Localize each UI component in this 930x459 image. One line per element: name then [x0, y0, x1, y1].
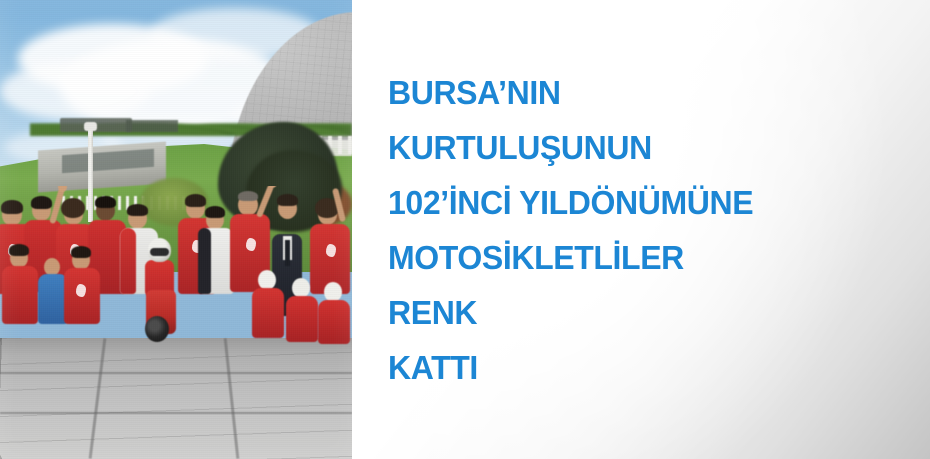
pavement-seam [0, 412, 352, 414]
helmet-visor [150, 248, 169, 256]
news-article-card: BURSA’NIN KURTULUŞUNUN 102’İNCİ YILDÖNÜM… [0, 0, 930, 459]
pavement-seam [0, 372, 352, 374]
headline-line-2: KURTULUŞUNUN [388, 120, 904, 175]
child-helmet [292, 278, 310, 298]
shirt-logo [326, 244, 336, 257]
person-hair [9, 244, 29, 256]
cloud-icon [0, 62, 150, 120]
person-hair [205, 206, 225, 218]
child-red-shirt [252, 288, 284, 338]
person-red-vest [120, 228, 136, 294]
person-hair [238, 191, 258, 201]
person-hair [127, 204, 148, 216]
shirt-logo [246, 238, 256, 251]
lamp-head [84, 122, 97, 131]
child-red-shirt [286, 296, 318, 342]
person-hair [71, 246, 91, 258]
child-helmet [324, 282, 342, 302]
headline-line-5: RENK [388, 285, 904, 340]
person-hair [95, 196, 116, 208]
child-red-shirt [318, 300, 350, 344]
motorcycle-wheel [145, 316, 169, 342]
headline-panel: BURSA’NIN KURTULUŞUNUN 102’İNCİ YILDÖNÜM… [352, 0, 930, 459]
distant-building [126, 120, 178, 132]
article-photo [0, 0, 352, 459]
person-hair [31, 196, 52, 209]
person-hair [61, 198, 85, 218]
person-hair [185, 194, 206, 207]
child-helmet [258, 270, 276, 290]
person-dark-jacket [198, 228, 211, 294]
waving-hand [58, 186, 67, 192]
headline-line-4: MOTOSİKLETLİLER [388, 230, 904, 285]
person-hair [277, 194, 298, 206]
person-red-shirt [2, 266, 38, 324]
crowd-of-people [0, 186, 352, 352]
headline-line-6: KATTI [388, 340, 904, 395]
pavement-grid-lines [0, 338, 352, 459]
article-headline: BURSA’NIN KURTULUŞUNUN 102’İNCİ YILDÖNÜM… [388, 65, 920, 395]
person-hair [1, 200, 23, 214]
headline-line-1: BURSA’NIN [388, 65, 904, 120]
official-tie [285, 240, 290, 266]
headline-line-3: 102’İNCİ YILDÖNÜMÜNE [388, 175, 904, 230]
shirt-logo [76, 284, 86, 297]
waving-arm [256, 186, 274, 218]
